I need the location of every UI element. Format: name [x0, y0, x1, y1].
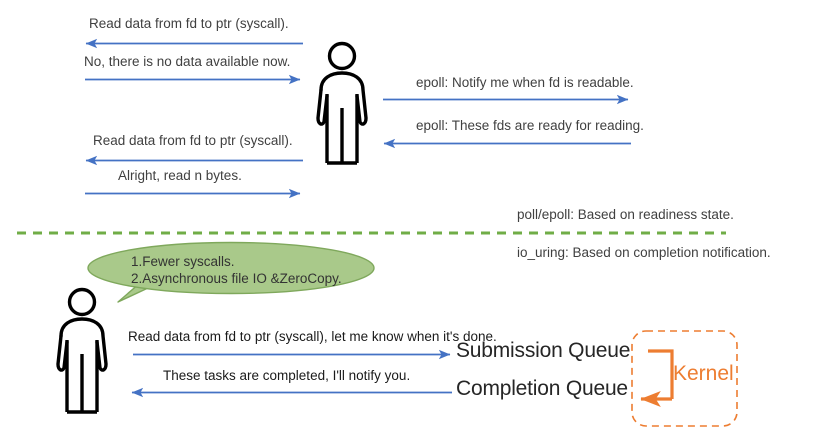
- label-msg-alright: Alright, read n bytes.: [118, 168, 242, 185]
- label-kernel: Kernel: [673, 362, 734, 386]
- person-figure-bottom: [58, 290, 106, 413]
- label-msg-epoll-ready: epoll: These fds are ready for reading.: [416, 118, 644, 135]
- bubble-line-1: 1.Fewer syscalls.: [131, 253, 235, 271]
- label-poll-epoll-note: poll/epoll: Based on readiness state.: [517, 207, 734, 224]
- label-completion-queue: Completion Queue: [456, 377, 628, 401]
- label-msg-epoll-notify: epoll: Notify me when fd is readable.: [416, 75, 634, 92]
- bubble-line-2: 2.Asynchronous file IO &ZeroCopy.: [131, 270, 342, 288]
- label-submission-queue: Submission Queue: [456, 339, 630, 363]
- label-msg-submit: Read data from fd to ptr (syscall), let …: [128, 329, 497, 346]
- label-msg-complete: These tasks are completed, I'll notify y…: [163, 368, 410, 385]
- person-figure-top: [318, 44, 366, 164]
- label-msg-read-2: Read data from fd to ptr (syscall).: [93, 133, 293, 150]
- label-msg-read-1: Read data from fd to ptr (syscall).: [89, 16, 289, 33]
- label-io-uring-note: io_uring: Based on completion notificati…: [517, 245, 771, 262]
- diagram-canvas: Read data from fd to ptr (syscall). No, …: [0, 0, 838, 442]
- label-msg-no-data: No, there is no data available now.: [84, 54, 290, 71]
